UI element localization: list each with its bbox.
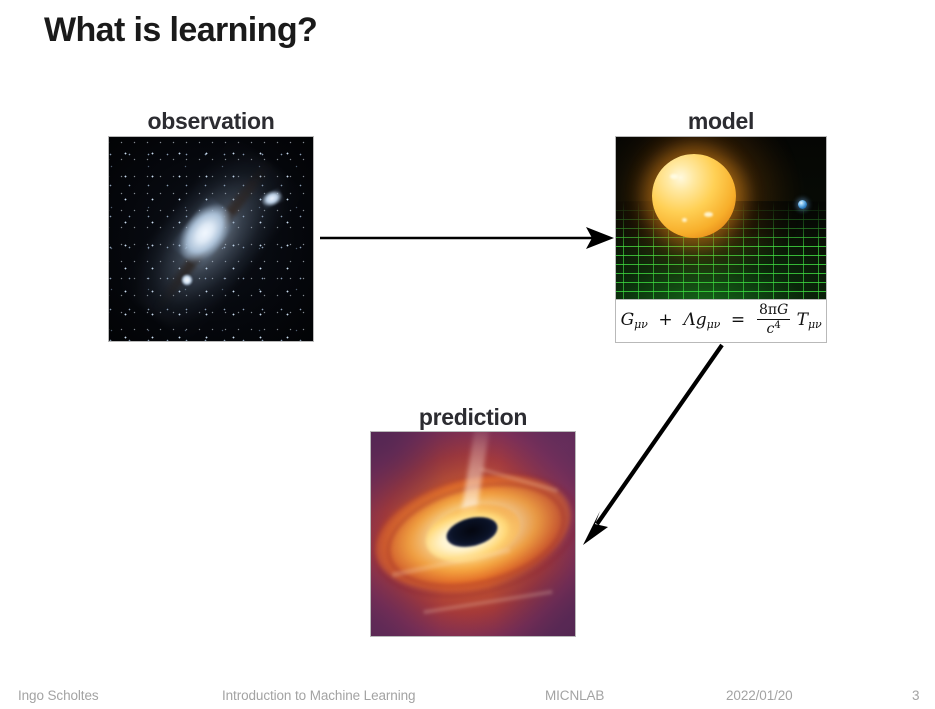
footer-course: Introduction to Machine Learning [222, 688, 415, 703]
prediction-black-hole-image [370, 431, 576, 637]
footer-page-number: 3 [912, 688, 919, 703]
diagram-node-label-model: model [615, 108, 827, 135]
diagram-node-label-prediction: prediction [370, 404, 576, 431]
earth-sphere [798, 200, 807, 209]
sun-surface-speck [670, 174, 678, 179]
einstein-field-equation-caption: Gμν + Λgμν = 8πG c4 Tμν [615, 299, 827, 343]
footer-author: Ingo Scholtes [18, 688, 99, 703]
sun-sphere [652, 154, 736, 238]
arrow-model-to-prediction [583, 345, 722, 545]
footer-date: 2022/01/20 [726, 688, 793, 703]
satellite-galaxy-lower [181, 274, 193, 286]
slide-canvas: What is learning? observation model [0, 0, 935, 709]
footer-venue: MICNLAB [545, 688, 604, 703]
model-spacetime-image [615, 136, 827, 299]
sun-surface-speck [704, 212, 713, 217]
diagram-node-label-observation: observation [108, 108, 314, 135]
observation-galaxy-image [108, 136, 314, 342]
arrow-observation-to-model [320, 227, 614, 249]
equation-text: Gμν + Λgμν = 8πG c4 Tμν [621, 304, 822, 337]
page-title: What is learning? [44, 11, 317, 50]
sun-surface-speck [682, 218, 687, 222]
